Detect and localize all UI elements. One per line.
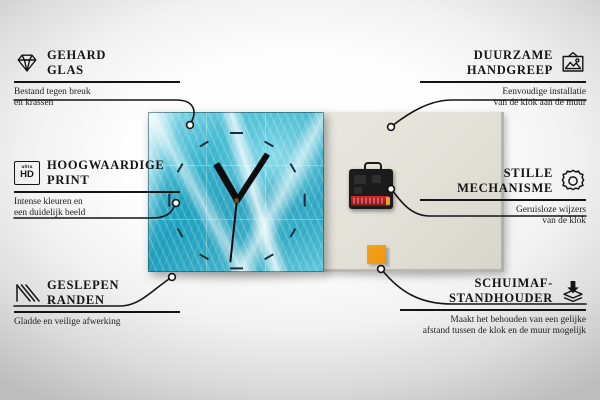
- mechanism-detail: [354, 187, 362, 194]
- feature-title: SCHUIMAF- STANDHOUDER: [449, 276, 553, 305]
- clock-tick: [230, 132, 243, 134]
- clock-tick: [303, 194, 305, 207]
- feature-description: Intense kleuren en een duidelijk beeld: [14, 197, 180, 220]
- foam-spacer-side: [386, 248, 390, 267]
- mechanism-detail: [372, 175, 381, 183]
- ultra-hd-icon-main-label: HD: [20, 170, 34, 180]
- feature-gehard-glas: GEHARD GLAS Bestand tegen breuk en krass…: [14, 48, 180, 110]
- feature-title: DUURZAME HANDGREEP: [467, 48, 553, 77]
- battery-terminal: [386, 197, 390, 205]
- feature-title: GESLEPEN RANDEN: [47, 278, 119, 307]
- clock-center-hub: [234, 198, 239, 203]
- feature-description: Gladde en veilige afwerking: [14, 317, 180, 329]
- feature-description: Maakt het behouden van een gelijke afsta…: [400, 315, 586, 338]
- infographic-canvas: GEHARD GLAS Bestand tegen breuk en krass…: [0, 0, 600, 400]
- feature-title: GEHARD GLAS: [47, 48, 106, 77]
- ultra-hd-icon: ultra HD: [14, 160, 40, 186]
- feature-heading-row: STILLE MECHANISME: [420, 166, 586, 195]
- foam-spacer: [367, 245, 386, 264]
- feature-divider: [14, 311, 180, 313]
- picture-frame-icon: [560, 50, 586, 76]
- feature-divider: [420, 81, 586, 83]
- feature-divider: [14, 81, 180, 83]
- feature-schuimafstandhouder: SCHUIMAF- STANDHOUDER Maakt het behouden…: [400, 276, 586, 338]
- feature-description: Bestand tegen breuk en krassen: [14, 87, 180, 110]
- feature-heading-row: GEHARD GLAS: [14, 48, 180, 77]
- feature-geslepen-randen: GESLEPEN RANDEN Gladde en veilige afwerk…: [14, 278, 180, 328]
- feature-duurzame-handgreep: DUURZAME HANDGREEP Eenvoudige installati…: [420, 48, 586, 110]
- clock-tick: [230, 267, 243, 269]
- feature-stille-mechanisme: STILLE MECHANISME Geruisloze wijzers van…: [420, 166, 586, 228]
- feature-title: STILLE MECHANISME: [457, 166, 553, 195]
- feature-hoogwaardige-print: ultra HD HOOGWAARDIGE PRINT Intense kleu…: [14, 158, 180, 220]
- feature-divider: [400, 309, 586, 311]
- feature-description: Eenvoudige installatie van de klok aan d…: [420, 87, 586, 110]
- feature-heading-row: SCHUIMAF- STANDHOUDER: [400, 276, 586, 305]
- feature-heading-row: DUURZAME HANDGREEP: [420, 48, 586, 77]
- battery-label: [353, 198, 385, 204]
- diagonal-edges-icon: [14, 280, 40, 306]
- press-pad-icon: [560, 278, 586, 304]
- feature-description: Geruisloze wijzers van de klok: [420, 205, 586, 228]
- feature-heading-row: GESLEPEN RANDEN: [14, 278, 180, 307]
- feature-divider: [14, 191, 180, 193]
- gear-icon: [560, 168, 586, 194]
- feature-title: HOOGWAARDIGE PRINT: [47, 158, 164, 187]
- feature-divider: [420, 199, 586, 201]
- mechanism-detail: [354, 175, 366, 184]
- diamond-icon: [14, 50, 40, 76]
- feature-heading-row: ultra HD HOOGWAARDIGE PRINT: [14, 158, 180, 187]
